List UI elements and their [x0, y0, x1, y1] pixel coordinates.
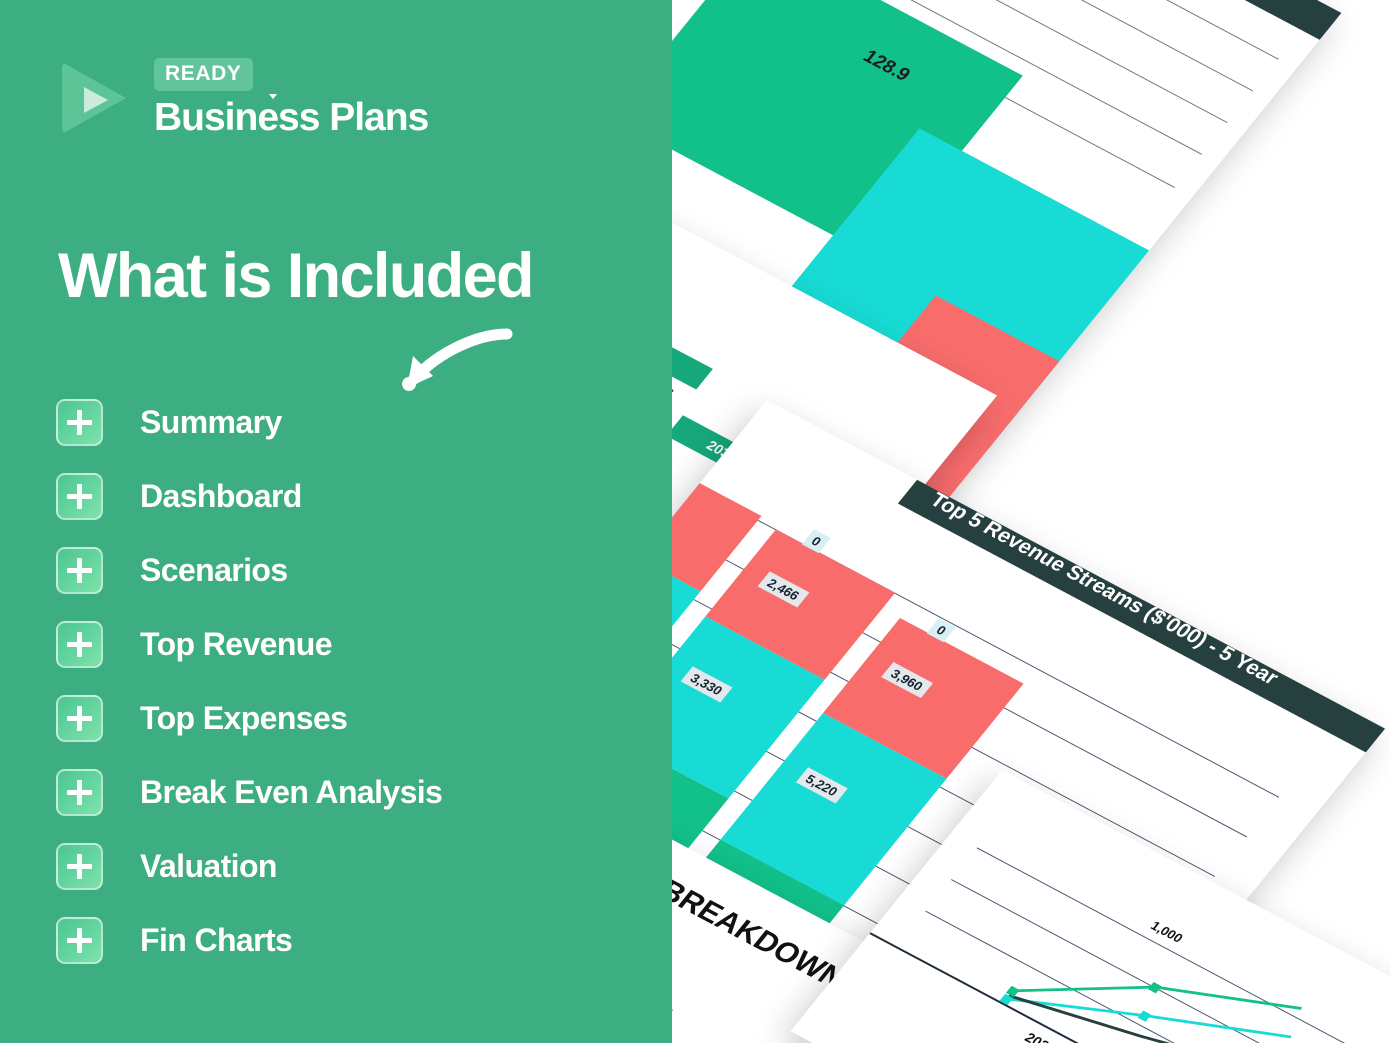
plus-icon — [56, 917, 103, 964]
play-triangle-icon — [62, 62, 138, 134]
sidebar-item-dashboard[interactable]: Dashboard — [56, 459, 656, 533]
table-header-2029: 2029 — [672, 318, 713, 389]
plus-icon — [56, 695, 103, 742]
feature-label: Break Even Analysis — [140, 774, 442, 811]
feature-label: Summary — [140, 404, 282, 441]
feature-label: Dashboard — [140, 478, 302, 515]
page-title: What is Included — [58, 245, 533, 308]
play-dot-icon — [269, 94, 277, 99]
feature-label: Top Expenses — [140, 700, 347, 737]
sidebar-item-scenarios[interactable]: Scenarios — [56, 533, 656, 607]
feature-label: Fin Charts — [140, 922, 292, 959]
sidebar-item-fin-charts[interactable]: Fin Charts — [56, 903, 656, 977]
plus-icon — [56, 473, 103, 520]
brand-name: Business Plans — [154, 98, 428, 137]
ready-badge: READY — [154, 58, 253, 91]
plus-icon — [56, 843, 103, 890]
sidebar-item-summary[interactable]: Summary — [56, 385, 656, 459]
sidebar-item-top-revenue[interactable]: Top Revenue — [56, 607, 656, 681]
plus-icon — [56, 399, 103, 446]
plus-icon — [56, 621, 103, 668]
spreadsheet-collage: Name of Contents 128.9 2028 649 781 485 … — [672, 0, 1390, 1043]
brand-logo[interactable]: READY Business Plans — [62, 58, 428, 137]
brand-name-text: Business Plans — [154, 96, 428, 139]
feature-label: Valuation — [140, 848, 277, 885]
feature-label: Top Revenue — [140, 626, 332, 663]
left-green-panel: READY Business Plans What is Included Su… — [0, 0, 672, 1043]
sidebar-item-break-even-analysis[interactable]: Break Even Analysis — [56, 755, 656, 829]
toc-dark-band — [1046, 0, 1342, 45]
sidebar-item-top-expenses[interactable]: Top Expenses — [56, 681, 656, 755]
plus-icon — [56, 547, 103, 594]
sidebar-item-valuation[interactable]: Valuation — [56, 829, 656, 903]
feature-label: Scenarios — [140, 552, 288, 589]
feature-list: Summary Dashboard Scenarios Top Revenue … — [56, 385, 656, 977]
plus-icon — [56, 769, 103, 816]
